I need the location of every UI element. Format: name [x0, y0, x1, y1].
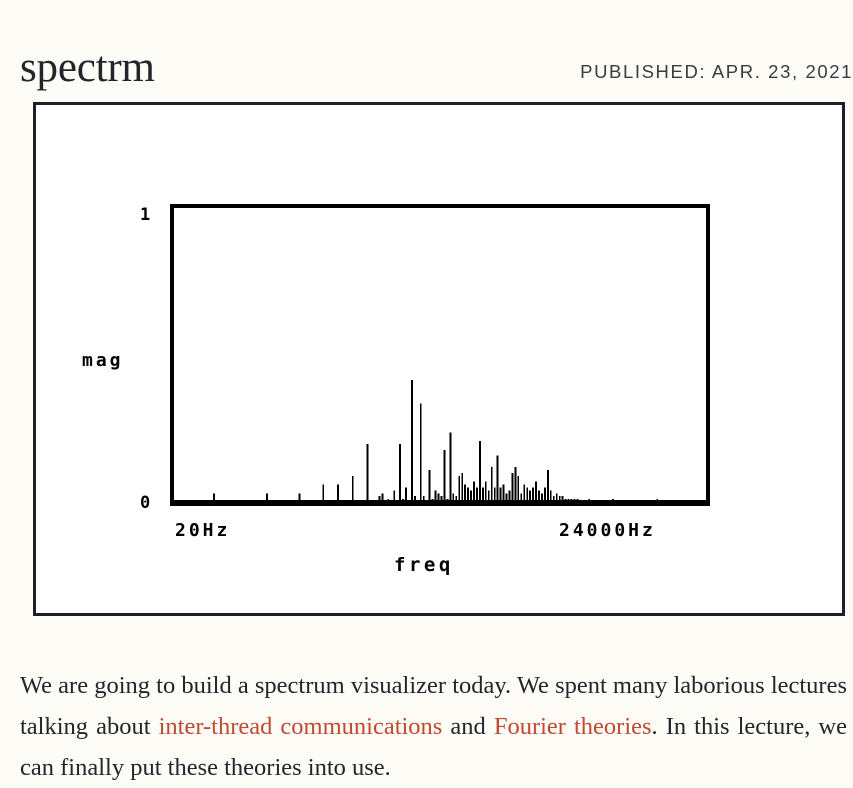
- link-inter-thread-communications[interactable]: inter-thread communications: [159, 713, 443, 740]
- plot-area: [170, 204, 710, 506]
- article-page: spectrm PUBLISHED: APR. 23, 2021 1 0 mag…: [0, 0, 853, 770]
- body-text-part-2: and: [442, 713, 493, 740]
- x-axis-tick-right: 24000Hz: [559, 520, 656, 541]
- y-axis-tick-top: 1: [140, 205, 153, 225]
- published-date: PUBLISHED: APR. 23, 2021: [580, 61, 853, 83]
- figure-frame: 1 0 mag 20Hz 24000Hz freq: [33, 102, 845, 616]
- article-body: We are going to build a spectrum visuali…: [20, 665, 847, 788]
- y-axis-title: mag: [82, 350, 124, 371]
- y-axis-tick-bottom: 0: [140, 493, 153, 513]
- spectrum-bars: [174, 208, 706, 502]
- link-fourier-theories[interactable]: Fourier theories: [494, 713, 652, 740]
- x-axis-title: freq: [394, 554, 454, 576]
- page-title: spectrm: [20, 43, 155, 93]
- x-axis-tick-left: 20Hz: [175, 520, 230, 541]
- spectrum-chart: 1 0 mag 20Hz 24000Hz freq: [36, 105, 848, 619]
